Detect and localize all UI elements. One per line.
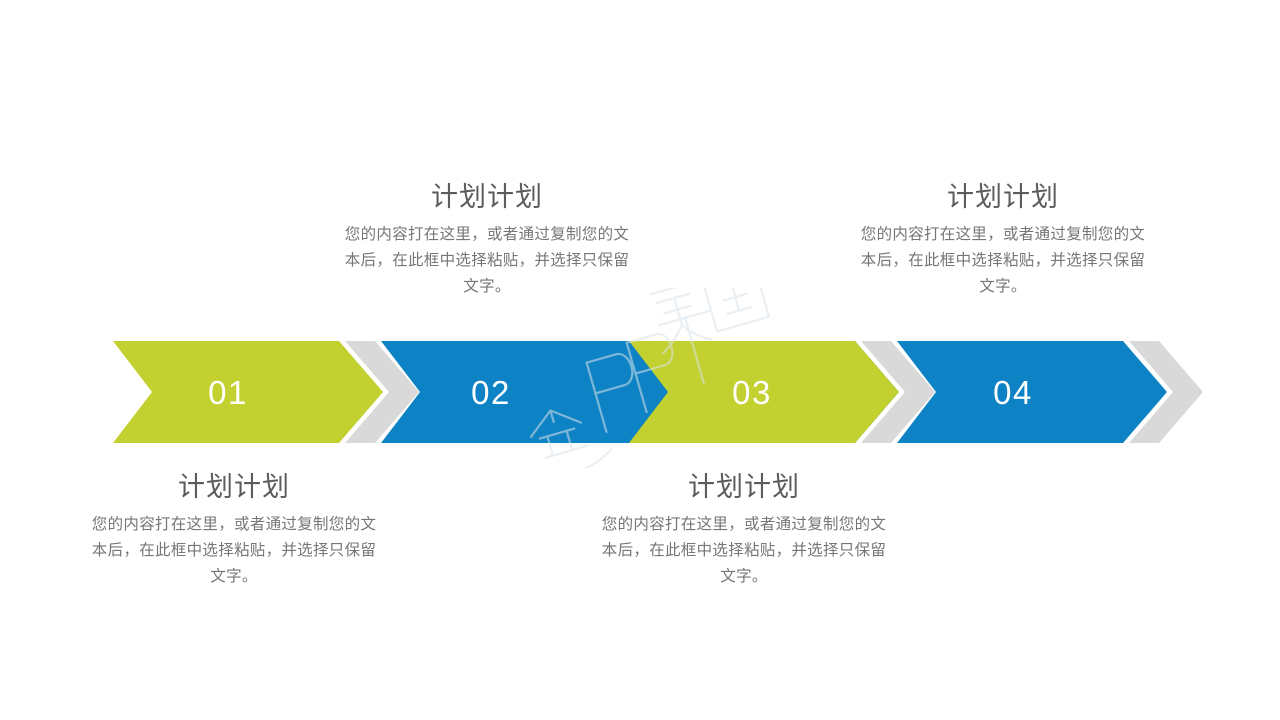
callout-step-01[interactable]: 计划计划 您的内容打在这里，或者通过复制您的文本后，在此框中选择粘贴，并选择只保…: [84, 470, 384, 590]
callout-title: 计划计划: [337, 180, 637, 214]
callout-title: 计划计划: [84, 470, 384, 504]
callout-step-02[interactable]: 计划计划 您的内容打在这里，或者通过复制您的文本后，在此框中选择粘贴，并选择只保…: [337, 180, 637, 300]
callout-body: 您的内容打在这里，或者通过复制您的文本后，在此框中选择粘贴，并选择只保留文字。: [337, 222, 637, 300]
step-shape-01[interactable]: [113, 341, 383, 443]
callout-step-03[interactable]: 计划计划 您的内容打在这里，或者通过复制您的文本后，在此框中选择粘贴，并选择只保…: [594, 470, 894, 590]
step-number-04: 04: [993, 374, 1033, 411]
callout-step-04[interactable]: 计划计划 您的内容打在这里，或者通过复制您的文本后，在此框中选择粘贴，并选择只保…: [853, 180, 1153, 300]
callout-body: 您的内容打在这里，或者通过复制您的文本后，在此框中选择粘贴，并选择只保留文字。: [84, 512, 384, 590]
process-arrow-band: 01 02 03 04: [0, 336, 1280, 448]
step-number-03: 03: [732, 374, 772, 411]
step-number-01: 01: [208, 374, 248, 411]
callout-title: 计划计划: [594, 470, 894, 504]
step-number-02: 02: [471, 374, 511, 411]
callout-body: 您的内容打在这里，或者通过复制您的文本后，在此框中选择粘贴，并选择只保留文字。: [594, 512, 894, 590]
callout-title: 计划计划: [853, 180, 1153, 214]
slide-canvas: 01 02 03 04: [0, 0, 1280, 720]
callout-body: 您的内容打在这里，或者通过复制您的文本后，在此框中选择粘贴，并选择只保留文字。: [853, 222, 1153, 300]
